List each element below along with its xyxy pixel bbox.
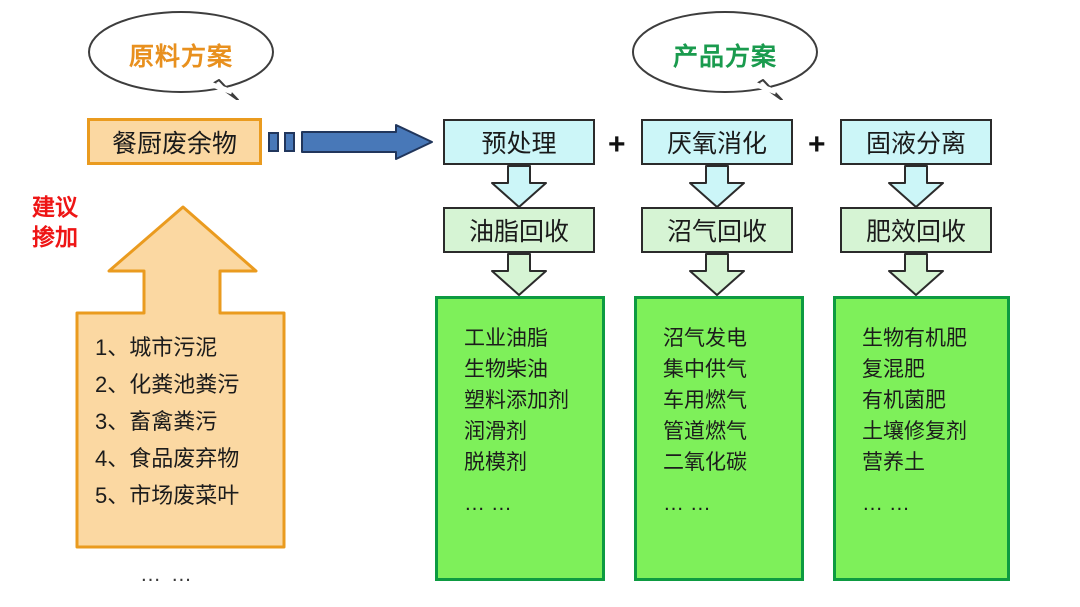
down-arrow-cyan-3-shape [887, 165, 945, 209]
list-item: 4、食品废弃物 [95, 440, 239, 477]
suggestion-note: 建议 掺加 [32, 192, 78, 252]
recovery-box-fertilizer[interactable]: 肥效回收 [840, 207, 992, 253]
separator-plus-1: + [608, 128, 626, 162]
list-item: 2、化粪池粪污 [95, 366, 239, 403]
flow-arrow-blue [268, 124, 434, 160]
down-arrow-green-1-shape [490, 253, 548, 297]
list-item: 1、城市污泥 [95, 329, 239, 366]
diagram-canvas: 原料方案 产品方案 餐厨废余物 建议 掺加 1、城市污泥 2、化粪池粪污 3、畜 [0, 0, 1080, 607]
list-item: 土壤修复剂 [862, 416, 967, 447]
down-arrow-green-3-shape [887, 253, 945, 297]
product-bubble: 产品方案 [630, 8, 820, 100]
list-item: 集中供气 [663, 354, 747, 385]
list-item: 管道燃气 [663, 416, 747, 447]
list-item: 有机菌肥 [862, 385, 967, 416]
product-panel-oil[interactable]: 工业油脂 生物柴油 塑料添加剂 润滑剂 脱模剂 … … [435, 296, 605, 581]
list-spacer [663, 478, 747, 488]
feedstock-more-ellipsis: … … [140, 563, 194, 587]
product-list-oil-more: … … [464, 488, 569, 519]
list-item: 沼气发电 [663, 323, 747, 354]
process-box-anaerobic-digestion[interactable]: 厌氧消化 [641, 119, 793, 165]
list-item: 工业油脂 [464, 323, 569, 354]
list-item: 生物有机肥 [862, 323, 967, 354]
down-arrow-green-3 [887, 253, 945, 297]
separator-plus-2: + [808, 128, 826, 162]
product-list-fertilizer: 生物有机肥 复混肥 有机菌肥 土壤修复剂 营养土 … … [862, 323, 967, 519]
list-spacer [862, 478, 967, 488]
recovery-box-oil[interactable]: 油脂回收 [443, 207, 595, 253]
input-box-kitchen-waste[interactable]: 餐厨废余物 [87, 118, 262, 165]
suggested-feedstock-list: 1、城市污泥 2、化粪池粪污 3、畜禽粪污 4、食品废弃物 5、市场废菜叶 [95, 329, 239, 514]
flow-arrow-blue-shape [268, 124, 434, 160]
product-list-biogas: 沼气发电 集中供气 车用燃气 管道燃气 二氧化碳 … … [663, 323, 747, 519]
process-box-solid-liquid-separation[interactable]: 固液分离 [840, 119, 992, 165]
list-item: 生物柴油 [464, 354, 569, 385]
suggestion-note-line1: 建议 [32, 192, 78, 222]
feedstock-bubble: 原料方案 [86, 8, 276, 100]
feedstock-bubble-label: 原料方案 [86, 37, 276, 73]
process-box-pretreatment[interactable]: 预处理 [443, 119, 595, 165]
down-arrow-cyan-3 [887, 165, 945, 209]
product-list-biogas-more: … … [663, 488, 747, 519]
down-arrow-cyan-2-shape [688, 165, 746, 209]
list-item: 复混肥 [862, 354, 967, 385]
product-panel-fertilizer[interactable]: 生物有机肥 复混肥 有机菌肥 土壤修复剂 营养土 … … [833, 296, 1010, 581]
list-item: 车用燃气 [663, 385, 747, 416]
down-arrow-green-2 [688, 253, 746, 297]
list-item: 塑料添加剂 [464, 385, 569, 416]
product-list-oil: 工业油脂 生物柴油 塑料添加剂 润滑剂 脱模剂 … … [464, 323, 569, 519]
list-item: 5、市场废菜叶 [95, 477, 239, 514]
down-arrow-cyan-1 [490, 165, 548, 209]
list-item: 二氧化碳 [663, 447, 747, 478]
down-arrow-green-1 [490, 253, 548, 297]
suggestion-note-line2: 掺加 [32, 222, 78, 252]
list-item: 营养土 [862, 447, 967, 478]
product-list-fertilizer-more: … … [862, 488, 967, 519]
product-bubble-label: 产品方案 [630, 37, 820, 73]
down-arrow-cyan-1-shape [490, 165, 548, 209]
list-item: 脱模剂 [464, 447, 569, 478]
product-panel-biogas[interactable]: 沼气发电 集中供气 车用燃气 管道燃气 二氧化碳 … … [634, 296, 804, 581]
list-spacer [464, 478, 569, 488]
list-item: 润滑剂 [464, 416, 569, 447]
down-arrow-cyan-2 [688, 165, 746, 209]
suggested-feedstock-arrow[interactable]: 1、城市污泥 2、化粪池粪污 3、畜禽粪污 4、食品废弃物 5、市场废菜叶 [73, 203, 288, 551]
down-arrow-green-2-shape [688, 253, 746, 297]
recovery-box-biogas[interactable]: 沼气回收 [641, 207, 793, 253]
list-item: 3、畜禽粪污 [95, 403, 239, 440]
